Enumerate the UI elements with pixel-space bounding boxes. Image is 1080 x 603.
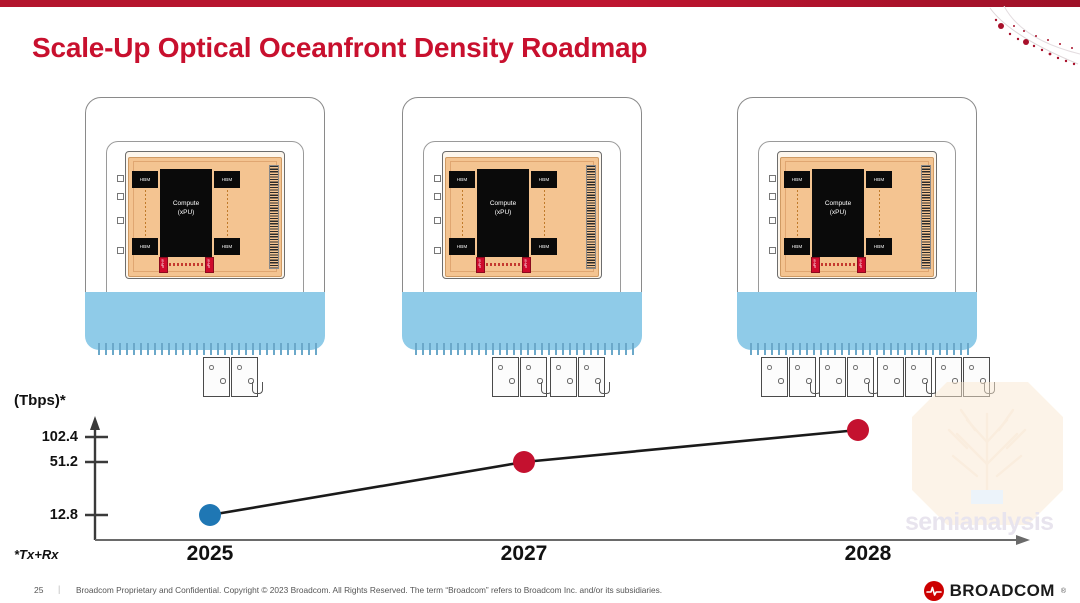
interconnect-trace [145, 190, 146, 236]
hbm-stack-top-left: HBM [784, 171, 810, 188]
connector-strip [745, 343, 969, 355]
side-pin [434, 193, 441, 200]
interconnect-trace [797, 190, 798, 236]
page-number: 25 [34, 585, 43, 595]
interconnect-trace [879, 190, 880, 236]
optical-module [520, 357, 547, 397]
bandwidth-roadmap-chart: (Tbps)* 102.4 51.2 12.8 *Tx+Rx 2025 2027… [0, 392, 1080, 582]
broadcom-logo: BROADCOM ® [924, 581, 1066, 601]
optical-module [819, 357, 846, 397]
chip-panel-2028: Compute (xPU) HBM HBM HBM HBM xPHY xPHY [737, 97, 979, 397]
compute-die: Compute (xPU) [160, 169, 212, 257]
die-label-line1: Compute [477, 199, 529, 208]
hbm-stack-bottom-right: HBM [531, 238, 557, 255]
broadcom-wordmark: BROADCOM [950, 581, 1055, 601]
side-pin [117, 247, 124, 254]
optical-module [761, 357, 788, 397]
optical-module-group [550, 357, 605, 397]
phy-label: xPHY [477, 261, 484, 268]
connector-strip [410, 343, 634, 355]
broadcom-pulse-icon [924, 581, 944, 601]
footer-legal-text: Broadcom Proprietary and Confidential. C… [76, 585, 662, 595]
phy-label: xPHY [858, 261, 865, 268]
hbm-stack-top-right: HBM [866, 171, 892, 188]
phy-block-left: xPHY [476, 257, 485, 273]
optical-module [231, 357, 258, 397]
compute-die-label: Compute (xPU) [477, 199, 529, 217]
optical-module [847, 357, 874, 397]
x-tick-label-2025: 2025 [150, 542, 270, 566]
hbm-stack-top-right: HBM [531, 171, 557, 188]
optical-module [203, 357, 230, 397]
optical-module-group [492, 357, 547, 397]
hbm-stack-bottom-right: HBM [214, 238, 240, 255]
broadcom-trademark: ® [1061, 588, 1066, 595]
side-pin [117, 193, 124, 200]
die-label-line2: (xPU) [477, 208, 529, 217]
side-pin [769, 175, 776, 182]
hbm-stack-bottom-left: HBM [449, 238, 475, 255]
chip-panel-2027: Compute (xPU) HBM HBM HBM HBM xPHY xPHY [402, 97, 644, 397]
phy-label: xPHY [812, 261, 819, 268]
x-tick-label-2027: 2027 [464, 542, 584, 566]
chip-panel-2025: Compute (xPU) HBM HBM HBM HBM xPHY xPHY [85, 97, 327, 397]
side-pin [117, 217, 124, 224]
footer: 25 | Broadcom Proprietary and Confidenti… [0, 581, 1080, 603]
pin-array [586, 165, 596, 269]
optical-interface-block [402, 292, 642, 350]
side-pin [117, 175, 124, 182]
phy-interconnect-trace [821, 263, 857, 266]
phy-block-right: xPHY [857, 257, 866, 273]
phy-label: xPHY [160, 261, 167, 268]
compute-die: Compute (xPU) [812, 169, 864, 257]
interconnect-trace [544, 190, 545, 236]
side-pin [769, 247, 776, 254]
phy-label: xPHY [523, 261, 530, 268]
die-label-line2: (xPU) [812, 208, 864, 217]
decorative-dot-arcs [970, 6, 1080, 76]
hbm-stack-bottom-left: HBM [784, 238, 810, 255]
slide-root: Scale-Up Optical Oceanfront Density Road… [0, 0, 1080, 603]
optical-module [789, 357, 816, 397]
phy-block-right: xPHY [522, 257, 531, 273]
phy-block-right: xPHY [205, 257, 214, 273]
compute-die-label: Compute (xPU) [160, 199, 212, 217]
pin-array [269, 165, 279, 269]
optical-module [877, 357, 904, 397]
phy-interconnect-trace [486, 263, 522, 266]
optical-interface-block [85, 292, 325, 350]
top-accent-bar [0, 0, 1080, 7]
footer-separator: | [58, 584, 60, 594]
side-pin [434, 175, 441, 182]
optical-interface-block [737, 292, 977, 350]
hbm-stack-bottom-right: HBM [866, 238, 892, 255]
phy-label: xPHY [206, 261, 213, 268]
optical-module-group [761, 357, 816, 397]
compute-die: Compute (xPU) [477, 169, 529, 257]
phy-block-left: xPHY [159, 257, 168, 273]
die-label-line1: Compute [160, 199, 212, 208]
hbm-stack-top-right: HBM [214, 171, 240, 188]
side-pin [434, 247, 441, 254]
connector-strip [93, 343, 317, 355]
die-label-line2: (xPU) [160, 208, 212, 217]
hbm-stack-top-left: HBM [449, 171, 475, 188]
phy-interconnect-trace [169, 263, 205, 266]
x-tick-label-2028: 2028 [808, 542, 928, 566]
pin-array [921, 165, 931, 269]
page-title: Scale-Up Optical Oceanfront Density Road… [32, 32, 647, 64]
compute-die-label: Compute (xPU) [812, 199, 864, 217]
side-pin [434, 217, 441, 224]
side-pin [769, 193, 776, 200]
hbm-stack-bottom-left: HBM [132, 238, 158, 255]
optical-module [578, 357, 605, 397]
optical-module [550, 357, 577, 397]
interconnect-trace [227, 190, 228, 236]
optical-module-group [819, 357, 874, 397]
side-pin [769, 217, 776, 224]
optical-module [492, 357, 519, 397]
hbm-stack-top-left: HBM [132, 171, 158, 188]
phy-block-left: xPHY [811, 257, 820, 273]
die-label-line1: Compute [812, 199, 864, 208]
optical-module-group [203, 357, 258, 397]
interconnect-trace [462, 190, 463, 236]
